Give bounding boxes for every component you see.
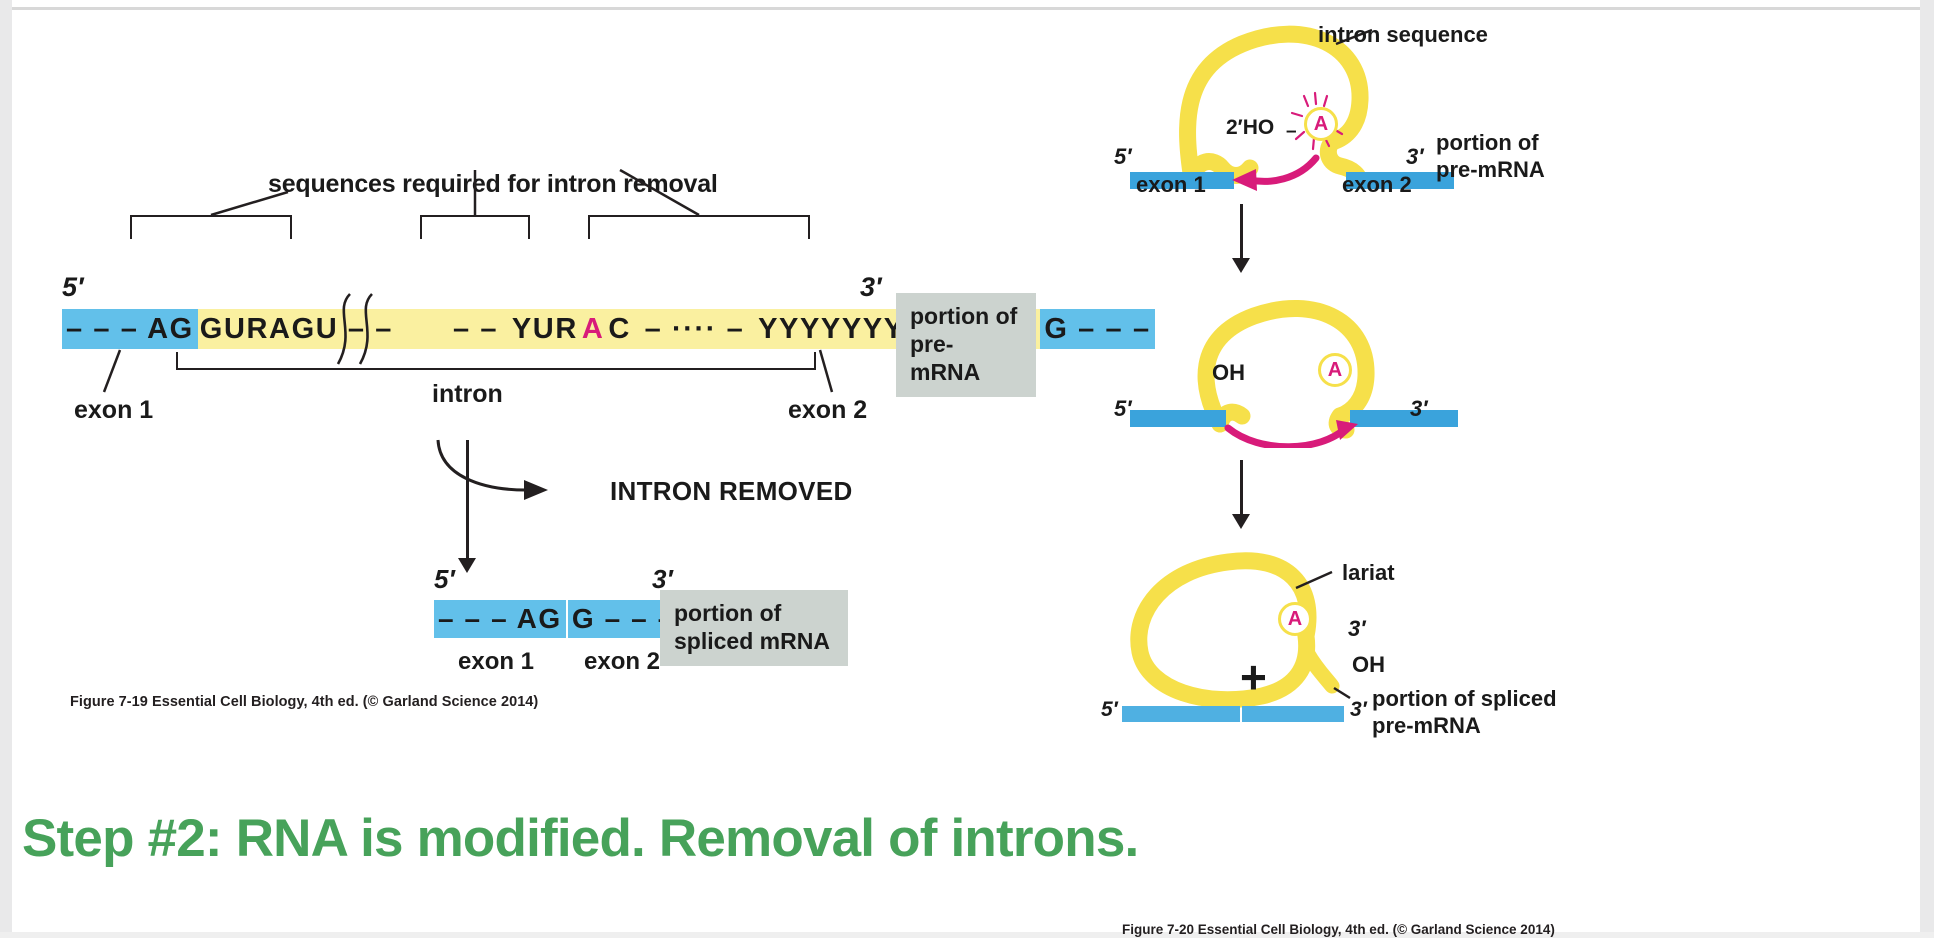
bracket-donor-site xyxy=(130,215,292,239)
premrna-squiggle-gap xyxy=(395,309,451,349)
right-figure-caption: Figure 7-20 Essential Cell Biology, 4th … xyxy=(1122,922,1555,937)
premrna-branch-C: C xyxy=(606,309,633,349)
premrna-exon1-sequence: – – – AG xyxy=(62,309,198,349)
stage3-callout-spliced-premrna: portion of spliced pre-mRNA xyxy=(1372,686,1557,740)
stage1-to-stage2-arrow-head xyxy=(1232,258,1250,273)
stage3-product-5prime-label: 5′ xyxy=(1101,698,1118,722)
spliced-mrna-callout-box: portion of spliced mRNA xyxy=(660,590,848,666)
left-figure-caption: Figure 7-19 Essential Cell Biology, 4th … xyxy=(70,694,538,710)
premrna-branch-YUR: YUR xyxy=(510,309,580,349)
premrna-exon2-label: exon 2 xyxy=(788,396,867,425)
stage3-product-3prime-label: 3′ xyxy=(1350,698,1367,722)
premrna-exon1-label: exon 1 xyxy=(74,396,153,425)
premrna-branch-point-A: A xyxy=(580,309,607,349)
stage1-to-stage2-arrow-shaft xyxy=(1240,204,1243,262)
stage1-callout-premrna: portion of pre-mRNA xyxy=(1436,130,1545,184)
stage3-3prime-label: 3′ xyxy=(1348,616,1366,642)
stage2-3prime-label: 3′ xyxy=(1410,396,1428,422)
premrna-3prime-label: 3′ xyxy=(860,272,882,303)
stage1-branch-adenine: A xyxy=(1304,107,1338,141)
stage2-branch-adenine: A xyxy=(1318,353,1352,387)
spliced-exon1-sequence: – – – AG xyxy=(434,600,566,638)
intron-removed-label: INTRON REMOVED xyxy=(610,477,853,507)
spliced-mrna-bar: – – – AG G – – – xyxy=(434,600,679,638)
stage1-5prime-label: 5′ xyxy=(1114,144,1132,170)
spliced-exon1-label: exon 1 xyxy=(458,648,534,676)
premrna-callout-box: portion of pre-mRNA xyxy=(896,293,1036,397)
stage1-exon1-label: exon 1 xyxy=(1136,172,1206,198)
sequences-required-heading: sequences required for intron removal xyxy=(268,170,718,199)
stage1-exon2-label: exon 2 xyxy=(1342,172,1412,198)
stage1-3prime-label: 3′ xyxy=(1406,144,1424,170)
stage2-5prime-label: 5′ xyxy=(1114,396,1132,422)
stage3-branch-adenine: A xyxy=(1278,602,1312,636)
bracket-acceptor-site xyxy=(588,215,810,239)
stage3-lariat-label: lariat xyxy=(1342,560,1395,586)
stage1-intron-sequence-label: intron sequence xyxy=(1318,22,1488,48)
stage3-product-exon1-bar xyxy=(1122,706,1240,722)
premrna-intron-dash-left: – – xyxy=(451,309,510,349)
spliced-5prime-label: 5′ xyxy=(434,565,455,595)
spliced-exon2-label: exon 2 xyxy=(584,648,660,676)
premrna-5prime-label: 5′ xyxy=(62,272,84,303)
stage3-product-exon2-bar xyxy=(1242,706,1344,722)
stage2-to-stage3-arrow-shaft xyxy=(1240,460,1243,518)
premrna-intron-label: intron xyxy=(432,380,503,409)
intron-removed-curved-arrow xyxy=(430,432,600,522)
right-figure-lariat-mechanism: A 2′HO – intron sequence 5′ 3′ exon 1 ex… xyxy=(1100,0,1934,938)
stage1-bond-dash: – xyxy=(1286,121,1297,143)
plus-sign: + xyxy=(1240,650,1267,704)
premrna-intron-spacer: – ···· – xyxy=(633,309,756,349)
left-figure-splicing-signals: sequences required for intron removal 5′… xyxy=(0,0,1100,760)
slide-title: Step #2: RNA is modified. Removal of int… xyxy=(22,808,1138,869)
stage2-to-stage3-arrow-head xyxy=(1232,514,1250,529)
stage1-2prime-OH-label: 2′HO xyxy=(1226,116,1274,140)
stage3-OH-label: OH xyxy=(1352,652,1385,678)
splice-arrow-head xyxy=(458,558,476,573)
intron-span-bracket xyxy=(176,352,816,370)
bracket-branch-point xyxy=(420,215,530,239)
stage2-OH-label: OH xyxy=(1212,360,1245,386)
